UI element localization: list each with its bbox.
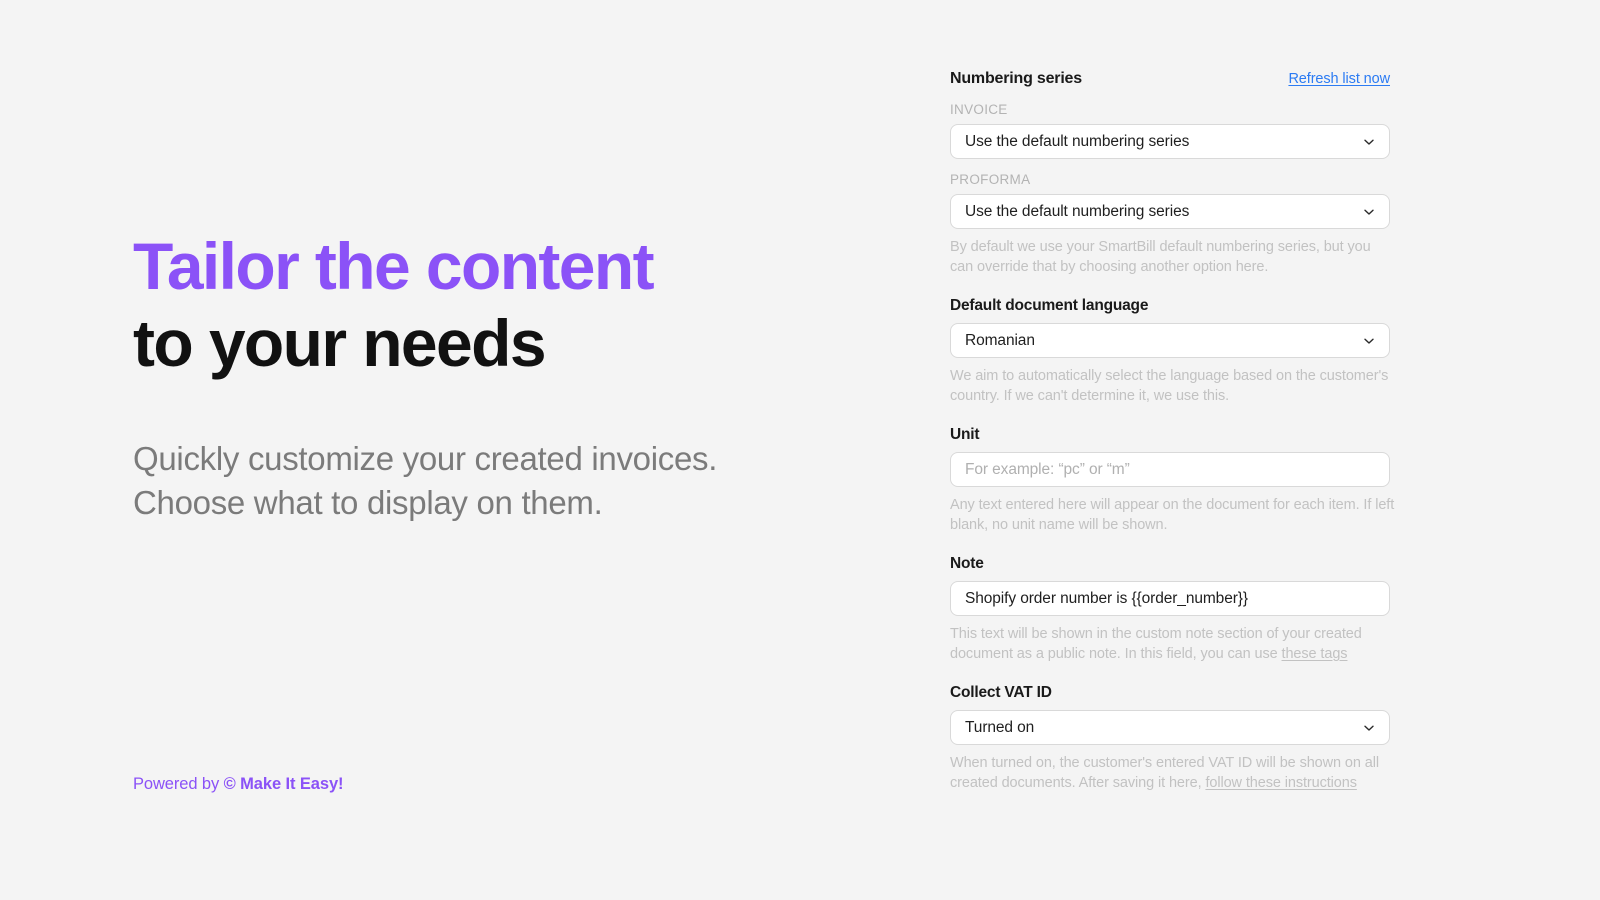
proforma-numbering-value: Use the default numbering series	[965, 203, 1189, 221]
numbering-series-section-header: Numbering series Refresh list now	[950, 70, 1390, 88]
follow-instructions-link[interactable]: follow these instructions	[1205, 775, 1356, 791]
note-help-text: This text will be shown in the custom no…	[950, 624, 1395, 664]
hero-subtitle: Quickly customize your created invoices.…	[133, 437, 733, 525]
powered-by-credit: Powered by © Make It Easy!	[133, 775, 343, 794]
invoice-field-label: INVOICE	[950, 102, 1390, 117]
chevron-down-icon	[1362, 334, 1376, 348]
chevron-down-icon	[1362, 135, 1376, 149]
note-input[interactable]: Shopify order number is {{order_number}}	[950, 581, 1390, 616]
numbering-series-help-text: By default we use your SmartBill default…	[950, 237, 1395, 277]
unit-input[interactable]: For example: “pc” or “m”	[950, 452, 1390, 487]
refresh-list-link[interactable]: Refresh list now	[1288, 71, 1390, 87]
collect-vat-id-label: Collect VAT ID	[950, 684, 1390, 702]
document-language-value: Romanian	[965, 332, 1035, 350]
numbering-series-title: Numbering series	[950, 70, 1082, 88]
page-title: Tailor the content to your needs	[133, 228, 653, 381]
unit-input-placeholder: For example: “pc” or “m”	[965, 461, 1130, 479]
document-language-help-text: We aim to automatically select the langu…	[950, 366, 1395, 406]
these-tags-link[interactable]: these tags	[1282, 646, 1348, 662]
document-language-select[interactable]: Romanian	[950, 323, 1390, 358]
invoice-numbering-value: Use the default numbering series	[965, 133, 1189, 151]
unit-label: Unit	[950, 426, 1390, 444]
collect-vat-id-select[interactable]: Turned on	[950, 710, 1390, 745]
unit-help-text: Any text entered here will appear on the…	[950, 495, 1395, 535]
chevron-down-icon	[1362, 205, 1376, 219]
collect-vat-id-value: Turned on	[965, 719, 1034, 737]
powered-by-brand: © Make It Easy!	[224, 775, 344, 793]
hero-panel: Tailor the content to your needs Quickly…	[133, 0, 853, 900]
chevron-down-icon	[1362, 721, 1376, 735]
proforma-field-label: PROFORMA	[950, 172, 1390, 187]
collect-vat-id-help-text: When turned on, the customer's entered V…	[950, 753, 1395, 793]
note-label: Note	[950, 555, 1390, 573]
headline-accent-line: Tailor the content	[133, 228, 653, 305]
headline-plain-line: to your needs	[133, 305, 653, 382]
document-language-label: Default document language	[950, 297, 1390, 315]
note-input-value: Shopify order number is {{order_number}}	[965, 590, 1248, 608]
proforma-numbering-select[interactable]: Use the default numbering series	[950, 194, 1390, 229]
powered-by-prefix: Powered by	[133, 775, 224, 793]
settings-panel: Numbering series Refresh list now INVOIC…	[950, 70, 1390, 793]
invoice-numbering-select[interactable]: Use the default numbering series	[950, 124, 1390, 159]
